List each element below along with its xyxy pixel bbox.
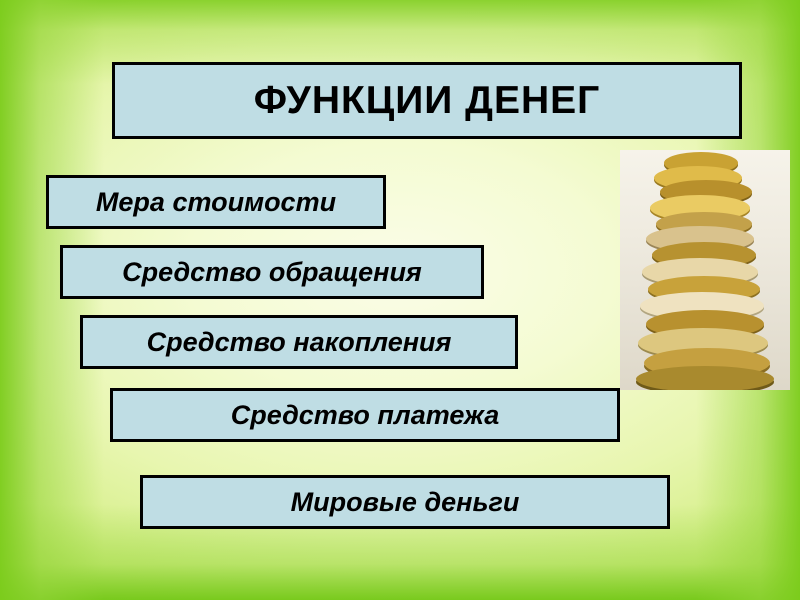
function-item-sredstvo-obrashcheniya: Средство обращения xyxy=(60,245,484,299)
slide-canvas: ФУНКЦИИ ДЕНЕГ Мера стоимости Средство об… xyxy=(0,0,800,600)
function-item-sredstvo-platezha: Средство платежа xyxy=(110,388,620,442)
coin xyxy=(636,366,774,390)
function-item-mera-stoimosti: Мера стоимости xyxy=(46,175,386,229)
function-item-sredstvo-nakopleniya: Средство накопления xyxy=(80,315,518,369)
stack-of-coins-photo xyxy=(620,150,790,390)
function-item-mirovye-dengi: Мировые деньги xyxy=(140,475,670,529)
page-title: ФУНКЦИИ ДЕНЕГ xyxy=(112,62,742,139)
